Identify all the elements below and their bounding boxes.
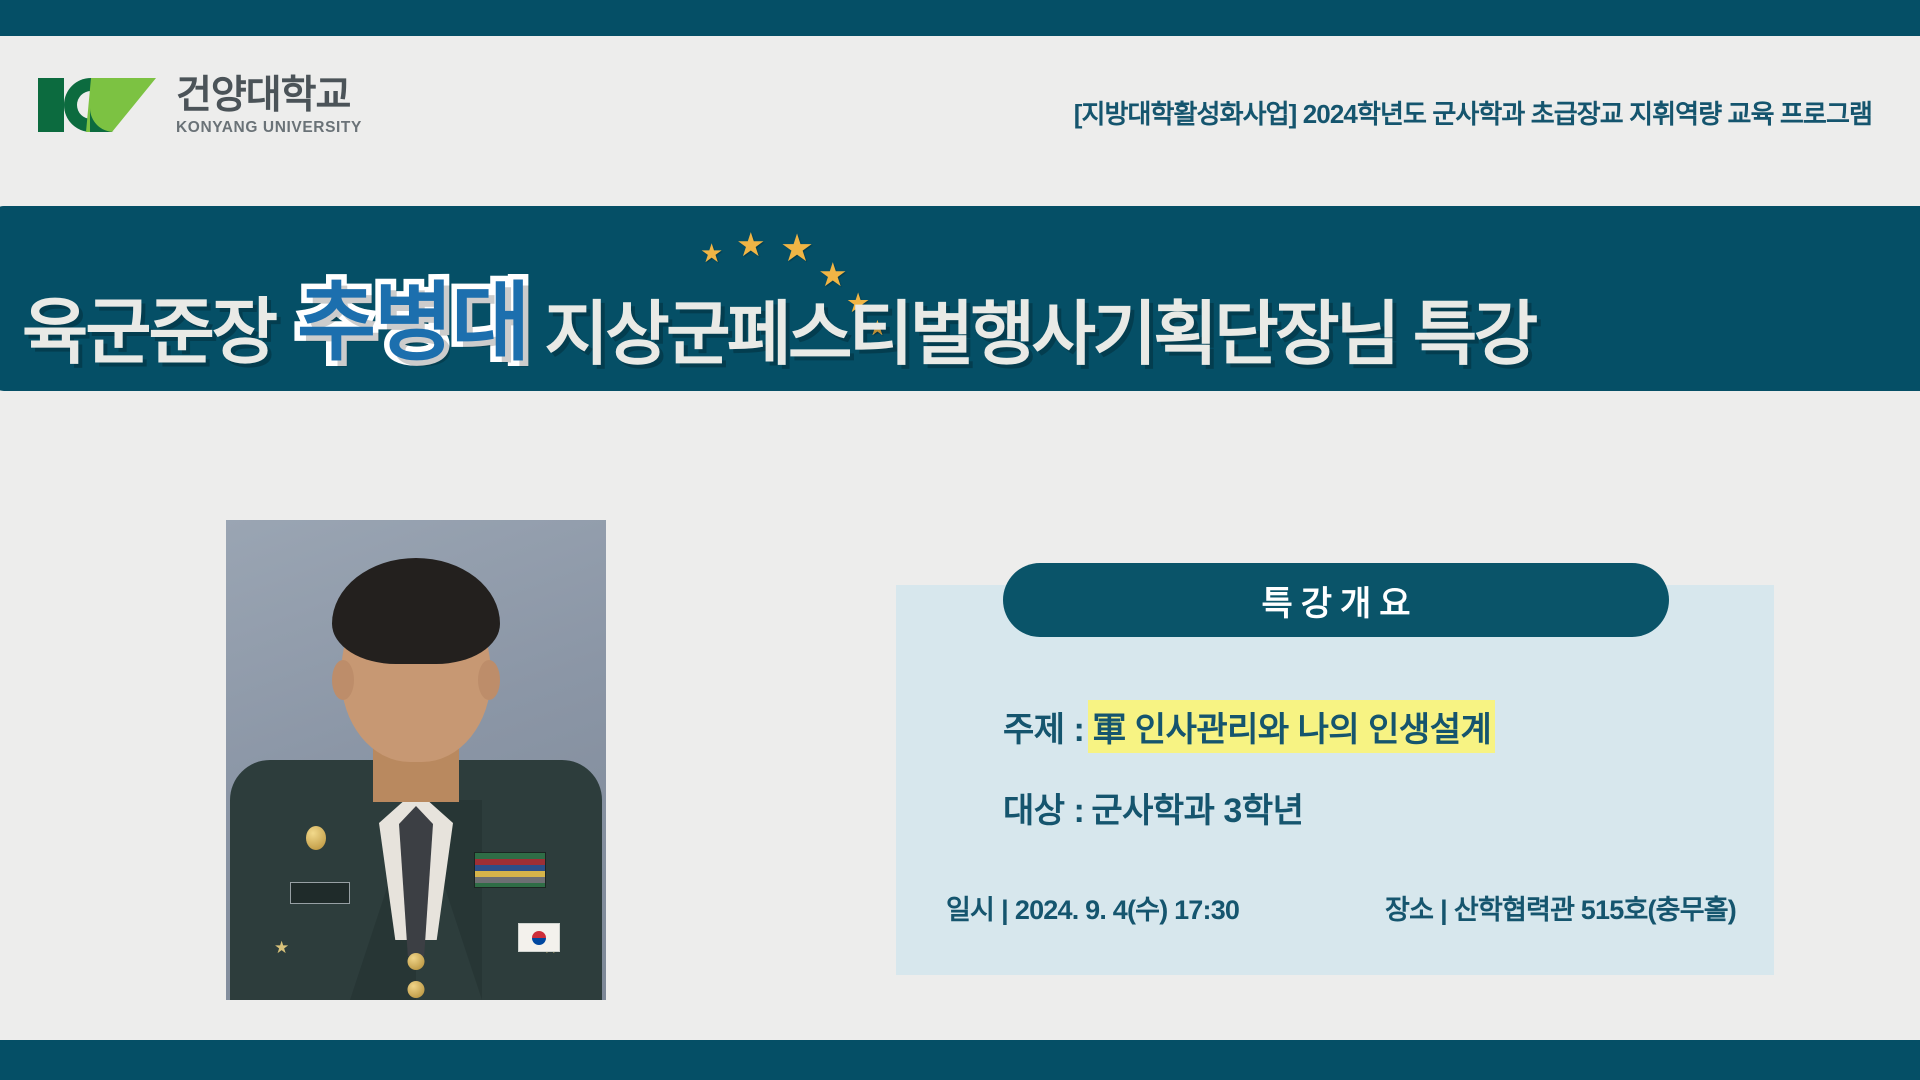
lecture-overview-label: 특강개요 bbox=[1253, 576, 1418, 625]
medal-icon bbox=[306, 826, 326, 850]
datetime-item: 일시|2024. 9. 4(수) 17:30 bbox=[946, 888, 1239, 927]
speaker-name: 추병대 bbox=[297, 283, 528, 367]
gold-star-icon: ★ bbox=[700, 240, 723, 266]
lecture-overview-pill: 특강개요 bbox=[1003, 563, 1669, 637]
banner-title-rest: 지상군페스티벌행사기획단장님 특강 bbox=[544, 301, 1534, 368]
poster-header: 건양대학교 KONYANG UNIVERSITY [지방대학활성화사업] 202… bbox=[0, 36, 1920, 211]
rank-star-icon: ★ bbox=[274, 938, 289, 958]
target-label: 대상 : bbox=[1003, 783, 1084, 832]
datetime-value: 2024. 9. 4(수) 17:30 bbox=[1015, 895, 1239, 925]
logo-wordmark: 건양대학교 KONYANG UNIVERSITY bbox=[176, 74, 362, 136]
banner-title-row: 육군준장 추병대 지상군페스티벌행사기획단장님 특강 bbox=[22, 283, 1535, 367]
uniform-button-icon bbox=[408, 981, 425, 998]
logo-korean-name: 건양대학교 bbox=[176, 76, 362, 115]
location-separator: | bbox=[1440, 895, 1447, 925]
speaker-rank: 육군준장 bbox=[22, 299, 275, 367]
ribbon-rack-icon bbox=[474, 852, 546, 888]
title-banner-inner: ★ ★ ★ ★ ★ ★ 육군준장 추병대 지상군페스티벌행사기획단장님 특강 bbox=[0, 206, 1920, 391]
speaker-photo: ★ ★ bbox=[226, 520, 606, 1000]
gold-star-icon: ★ bbox=[780, 230, 814, 268]
photo-ear-left bbox=[332, 660, 354, 700]
location-item: 장소|산학협력관 515호(충무홀) bbox=[1385, 888, 1736, 927]
subject-label: 주제 : bbox=[1003, 702, 1084, 751]
target-row: 대상 : 군사학과 3학년 bbox=[1003, 783, 1303, 832]
logo-english-name: KONYANG UNIVERSITY bbox=[176, 120, 362, 136]
poster-root: 건양대학교 KONYANG UNIVERSITY [지방대학활성화사업] 202… bbox=[0, 0, 1920, 1080]
uniform-button-icon bbox=[408, 953, 425, 970]
location-value: 산학협력관 515호(충무홀) bbox=[1454, 895, 1736, 925]
university-logo: 건양대학교 KONYANG UNIVERSITY bbox=[34, 74, 362, 136]
gold-star-icon: ★ bbox=[736, 228, 766, 261]
bottom-navy-bar bbox=[0, 1040, 1920, 1080]
location-label: 장소 bbox=[1385, 895, 1433, 925]
target-value: 군사학과 3학년 bbox=[1091, 783, 1303, 832]
datetime-separator: | bbox=[1001, 895, 1008, 925]
korean-flag-icon bbox=[518, 923, 560, 952]
top-navy-bar bbox=[0, 0, 1920, 36]
konyang-ky-logo-icon bbox=[34, 74, 162, 136]
datetime-label: 일시 bbox=[946, 895, 994, 925]
subject-value: 軍 인사관리와 나의 인생설계 bbox=[1088, 700, 1495, 753]
photo-ear-right bbox=[478, 660, 500, 700]
photo-nametag bbox=[290, 882, 350, 904]
title-banner: ★ ★ ★ ★ ★ ★ 육군준장 추병대 지상군페스티벌행사기획단장님 특강 bbox=[0, 206, 1920, 391]
flag-taeguk-icon bbox=[532, 931, 546, 945]
subject-row: 주제 : 軍 인사관리와 나의 인생설계 bbox=[1003, 700, 1495, 753]
program-title-line: [지방대학활성화사업] 2024학년도 군사학과 초급장교 지휘역량 교육 프로… bbox=[1074, 94, 1872, 131]
meta-row: 일시|2024. 9. 4(수) 17:30 장소|산학협력관 515호(충무홀… bbox=[946, 888, 1736, 927]
